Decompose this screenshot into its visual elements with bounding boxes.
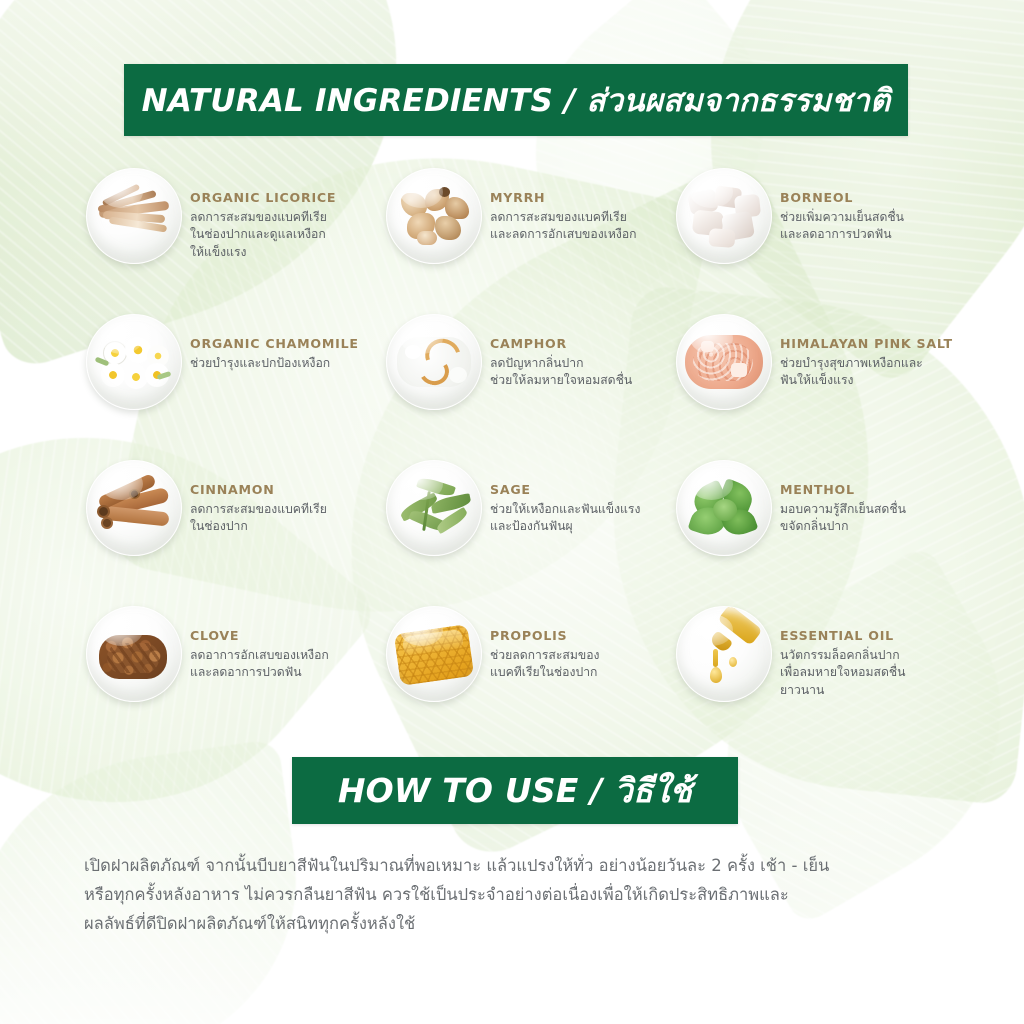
ingredient-title: ESSENTIAL OIL xyxy=(780,628,905,643)
ingredient-description: มอบความรู้สึกเย็นสดชื่น ขจัดกลิ่นปาก xyxy=(780,501,906,536)
licorice-root-image xyxy=(95,183,173,249)
honeycomb-sphere-icon xyxy=(386,606,482,702)
ingredient-text: BORNEOL ช่วยเพิ่มความเย็นสดชื่น และลดอาก… xyxy=(780,168,912,244)
ingredient-title: CLOVE xyxy=(190,628,329,643)
ingredient-card-sage: SAGE ช่วยให้เหงือกและฟันแข็งแรง และป้องก… xyxy=(378,460,668,606)
ingredient-text: ESSENTIAL OIL นวัตกรรมล็อคกลิ่นปาก เพื่อ… xyxy=(780,606,913,699)
ingredient-title: CAMPHOR xyxy=(490,336,632,351)
ingredient-description: ช่วยเพิ่มความเย็นสดชื่น และลดอาการปวดฟัน xyxy=(780,209,904,244)
ingredient-card-clove: CLOVE ลดอาการอักเสบของเหงือก และลดอาการป… xyxy=(78,606,378,752)
sphere-wrapper xyxy=(78,168,190,264)
sphere-wrapper xyxy=(78,314,190,410)
borneol-crystal-sphere-icon xyxy=(676,168,772,264)
chamomile-flower-image xyxy=(95,329,173,395)
ingredient-text: ORGANIC LICORICE ลดการสะสมของแบคทีเรีย ใ… xyxy=(190,168,344,261)
ingredient-card-camphor: CAMPHOR ลดปัญหากลิ่นปาก ช่วยให้ลมหายใจหอ… xyxy=(378,314,668,460)
ingredient-title: PROPOLIS xyxy=(490,628,599,643)
ingredients-infographic: NATURAL INGREDIENTS / ส่วนผสมจากธรรมชาติ xyxy=(0,0,1024,1024)
sphere-wrapper xyxy=(78,460,190,556)
mint-leaves-sphere-icon xyxy=(676,460,772,556)
myrrh-resin-image xyxy=(395,183,473,249)
ingredient-description: ลดการสะสมของแบคทีเรีย และลดการอักเสบของเ… xyxy=(490,209,637,244)
ingredients-grid: ORGANIC LICORICE ลดการสะสมของแบคทีเรีย ใ… xyxy=(78,168,958,752)
ingredient-title: ORGANIC LICORICE xyxy=(190,190,336,205)
sphere-wrapper xyxy=(78,606,190,702)
ingredient-text: MYRRH ลดการสะสมของแบคทีเรีย และลดการอักเ… xyxy=(490,168,645,244)
oil-dropper-image xyxy=(685,621,763,687)
ingredient-text: PROPOLIS ช่วยลดการสะสมของ แบคทีเรียในช่อ… xyxy=(490,606,607,682)
clove-buds-image xyxy=(95,621,173,687)
pink-salt-image xyxy=(685,329,763,395)
ingredient-card-organic-chamomile: ORGANIC CHAMOMILE ช่วยบำรุงและปกป้องเหงื… xyxy=(78,314,378,460)
ingredient-description: นวัตกรรมล็อคกลิ่นปาก เพื่อลมหายใจหอมสดชื… xyxy=(780,647,905,699)
sage-leaves-image xyxy=(395,475,473,541)
ingredient-card-propolis: PROPOLIS ช่วยลดการสะสมของ แบคทีเรียในช่อ… xyxy=(378,606,668,752)
ingredient-description: ช่วยบำรุงและปกป้องเหงือก xyxy=(190,355,359,372)
ingredient-description: ลดการสะสมของแบคทีเรีย ในช่องปากและดูแลเห… xyxy=(190,209,336,261)
ingredients-row: CINNAMON ลดการสะสมของแบคทีเรีย ในช่องปาก xyxy=(78,460,958,606)
ingredients-row: ORGANIC LICORICE ลดการสะสมของแบคทีเรีย ใ… xyxy=(78,168,958,314)
how-to-use-banner: HOW TO USE / วิธีใช้ xyxy=(292,757,738,824)
ingredient-title: SAGE xyxy=(490,482,640,497)
chamomile-flower-sphere-icon xyxy=(86,314,182,410)
ingredient-text: CLOVE ลดอาการอักเสบของเหงือก และลดอาการป… xyxy=(190,606,337,682)
ingredient-text: HIMALAYAN PINK SALT ช่วยบำรุงสุขภาพเหงือ… xyxy=(780,314,961,390)
sphere-wrapper xyxy=(668,460,780,556)
myrrh-resin-sphere-icon xyxy=(386,168,482,264)
ingredient-title: CINNAMON xyxy=(190,482,327,497)
ingredients-row: ORGANIC CHAMOMILE ช่วยบำรุงและปกป้องเหงื… xyxy=(78,314,958,460)
ingredient-text: ORGANIC CHAMOMILE ช่วยบำรุงและปกป้องเหงื… xyxy=(190,314,367,372)
sphere-wrapper xyxy=(378,314,490,410)
ingredient-text: SAGE ช่วยให้เหงือกและฟันแข็งแรง และป้องก… xyxy=(490,460,648,536)
ingredient-title: MYRRH xyxy=(490,190,637,205)
ingredient-title: HIMALAYAN PINK SALT xyxy=(780,336,953,351)
sphere-wrapper xyxy=(668,606,780,702)
how-to-use-title: HOW TO USE / วิธีใช้ xyxy=(338,764,692,817)
sphere-wrapper xyxy=(668,168,780,264)
ingredient-text: MENTHOL มอบความรู้สึกเย็นสดชื่น ขจัดกลิ่… xyxy=(780,460,914,536)
natural-ingredients-title: NATURAL INGREDIENTS / ส่วนผสมจากธรรมชาติ xyxy=(142,75,891,125)
natural-ingredients-banner: NATURAL INGREDIENTS / ส่วนผสมจากธรรมชาติ xyxy=(124,64,908,136)
ingredient-description: ลดการสะสมของแบคทีเรีย ในช่องปาก xyxy=(190,501,327,536)
how-to-use-instructions: เปิดฝาผลิตภัณฑ์ จากนั้นบีบยาสีฟันในปริมา… xyxy=(84,852,946,939)
licorice-root-sphere-icon xyxy=(86,168,182,264)
honeycomb-image xyxy=(395,621,473,687)
ingredient-text: CINNAMON ลดการสะสมของแบคทีเรีย ในช่องปาก xyxy=(190,460,335,536)
ingredient-card-himalayan-pink-salt: HIMALAYAN PINK SALT ช่วยบำรุงสุขภาพเหงือ… xyxy=(668,314,958,460)
ingredient-description: ช่วยให้เหงือกและฟันแข็งแรง และป้องกันฟัน… xyxy=(490,501,640,536)
ingredient-card-organic-licorice: ORGANIC LICORICE ลดการสะสมของแบคทีเรีย ใ… xyxy=(78,168,378,314)
cinnamon-sticks-sphere-icon xyxy=(86,460,182,556)
ingredient-title: MENTHOL xyxy=(780,482,906,497)
oil-dropper-sphere-icon xyxy=(676,606,772,702)
ingredient-description: ช่วยบำรุงสุขภาพเหงือกและ ฟันให้แข็งแรง xyxy=(780,355,953,390)
sphere-wrapper xyxy=(378,460,490,556)
sage-leaves-sphere-icon xyxy=(386,460,482,556)
sphere-wrapper xyxy=(668,314,780,410)
ingredient-card-essential-oil: ESSENTIAL OIL นวัตกรรมล็อคกลิ่นปาก เพื่อ… xyxy=(668,606,958,752)
ingredients-row: CLOVE ลดอาการอักเสบของเหงือก และลดอาการป… xyxy=(78,606,958,752)
ingredient-card-menthol: MENTHOL มอบความรู้สึกเย็นสดชื่น ขจัดกลิ่… xyxy=(668,460,958,606)
ingredient-description: ช่วยลดการสะสมของ แบคทีเรียในช่องปาก xyxy=(490,647,599,682)
camphor-crystal-image xyxy=(395,329,473,395)
sphere-wrapper xyxy=(378,606,490,702)
cinnamon-sticks-image xyxy=(95,475,173,541)
sphere-wrapper xyxy=(378,168,490,264)
ingredient-description: ลดอาการอักเสบของเหงือก และลดอาการปวดฟัน xyxy=(190,647,329,682)
ingredient-description: ลดปัญหากลิ่นปาก ช่วยให้ลมหายใจหอมสดชื่น xyxy=(490,355,632,390)
ingredient-card-cinnamon: CINNAMON ลดการสะสมของแบคทีเรีย ในช่องปาก xyxy=(78,460,378,606)
clove-buds-sphere-icon xyxy=(86,606,182,702)
mint-leaves-image xyxy=(685,475,763,541)
ingredient-card-borneol: BORNEOL ช่วยเพิ่มความเย็นสดชื่น และลดอาก… xyxy=(668,168,958,314)
ingredient-text: CAMPHOR ลดปัญหากลิ่นปาก ช่วยให้ลมหายใจหอ… xyxy=(490,314,640,390)
ingredient-title: BORNEOL xyxy=(780,190,904,205)
borneol-crystal-image xyxy=(685,183,763,249)
pink-salt-sphere-icon xyxy=(676,314,772,410)
ingredient-title: ORGANIC CHAMOMILE xyxy=(190,336,359,351)
ingredient-card-myrrh: MYRRH ลดการสะสมของแบคทีเรีย และลดการอักเ… xyxy=(378,168,668,314)
camphor-crystal-sphere-icon xyxy=(386,314,482,410)
